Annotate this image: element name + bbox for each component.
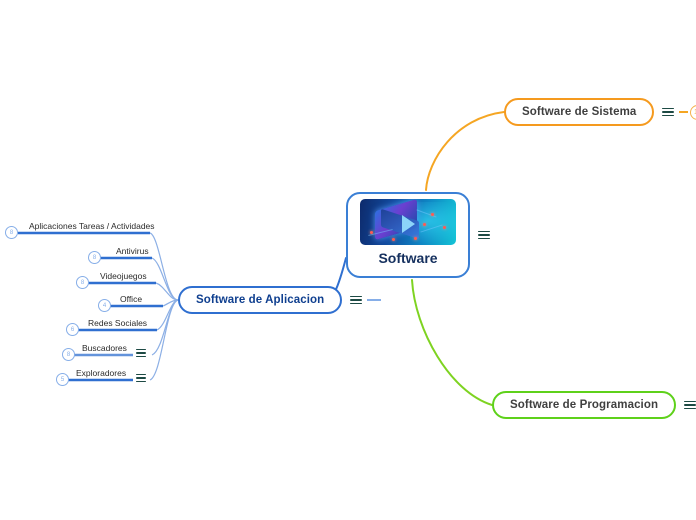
leaf-buscadores-label: Buscadores bbox=[82, 343, 127, 353]
leaf-aplicaciones-tareas-badge[interactable]: 8 bbox=[5, 226, 18, 239]
leaf-node-redes-sociales[interactable]: 6 Redes Sociales bbox=[66, 323, 79, 336]
branch-sistema-count-badge[interactable]: 10 bbox=[690, 105, 696, 120]
center-node-label: Software bbox=[378, 250, 437, 266]
mindmap-canvas: Software Software de Sistema 10 Software… bbox=[0, 0, 696, 520]
leaf-antivirus-label: Antivirus bbox=[116, 246, 149, 256]
branch-aplicacion-menu-icon[interactable] bbox=[350, 296, 362, 305]
branch-node-sistema[interactable]: Software de Sistema 10 bbox=[504, 98, 696, 126]
branch-sistema-connector bbox=[679, 111, 688, 113]
leaf-node-buscadores[interactable]: 8 Buscadores bbox=[62, 348, 75, 361]
leaf-buscadores-badge[interactable]: 8 bbox=[62, 348, 75, 361]
software-illustration bbox=[360, 199, 456, 245]
leaf-redes-sociales-badge[interactable]: 6 bbox=[66, 323, 79, 336]
edge-center-to-programacion bbox=[412, 280, 492, 405]
leaf-videojuegos-label: Videojuegos bbox=[100, 271, 147, 281]
edge-leaf-redes-sociales bbox=[157, 300, 178, 330]
branch-sistema-menu-icon[interactable] bbox=[662, 108, 674, 117]
leaf-node-antivirus[interactable]: 8 Antivirus bbox=[88, 251, 101, 264]
branch-node-programacion[interactable]: Software de Programacion 10 bbox=[492, 391, 696, 419]
edge-leaf-exploradores bbox=[150, 300, 178, 380]
branch-aplicacion-label: Software de Aplicacion bbox=[196, 294, 324, 306]
center-node[interactable]: Software bbox=[346, 192, 490, 278]
leaf-videojuegos-badge[interactable]: 8 bbox=[76, 276, 89, 289]
leaf-exploradores-badge[interactable]: 5 bbox=[56, 373, 69, 386]
branch-node-aplicacion[interactable]: Software de Aplicacion bbox=[178, 286, 381, 314]
edge-leaf-office bbox=[163, 300, 178, 306]
leaf-node-exploradores[interactable]: 5 Exploradores bbox=[56, 373, 69, 386]
branch-sistema-label: Software de Sistema bbox=[522, 106, 636, 118]
branch-sistema-pill[interactable]: Software de Sistema bbox=[504, 98, 654, 126]
center-node-box[interactable]: Software bbox=[346, 192, 470, 278]
edge-leaf-aplicaciones-tareas bbox=[150, 233, 178, 300]
leaf-aplicaciones-tareas-label: Aplicaciones Tareas / Actividades bbox=[29, 221, 155, 231]
leaf-node-office[interactable]: 4 Office bbox=[98, 299, 111, 312]
edge-leaf-antivirus bbox=[152, 258, 178, 300]
branch-programacion-pill[interactable]: Software de Programacion bbox=[492, 391, 676, 419]
leaf-exploradores-menu-icon[interactable] bbox=[136, 362, 146, 382]
branch-aplicacion-connector bbox=[367, 299, 381, 301]
leaf-redes-sociales-label: Redes Sociales bbox=[88, 318, 147, 328]
branch-programacion-menu-icon[interactable] bbox=[684, 401, 696, 410]
leaf-office-label: Office bbox=[120, 294, 142, 304]
leaf-antivirus-badge[interactable]: 8 bbox=[88, 251, 101, 264]
leaf-node-aplicaciones-tareas[interactable]: 8 Aplicaciones Tareas / Actividades bbox=[5, 226, 18, 239]
branch-aplicacion-pill[interactable]: Software de Aplicacion bbox=[178, 286, 342, 314]
edge-group-leaves bbox=[150, 233, 178, 380]
edge-leaf-buscadores bbox=[152, 300, 178, 355]
edge-leaf-videojuegos bbox=[156, 283, 178, 300]
leaf-exploradores-label: Exploradores bbox=[76, 368, 126, 378]
branch-programacion-label: Software de Programacion bbox=[510, 399, 658, 411]
leaf-buscadores-menu-icon[interactable] bbox=[136, 337, 146, 357]
center-node-menu-icon[interactable] bbox=[478, 231, 490, 240]
leaf-node-videojuegos[interactable]: 8 Videojuegos bbox=[76, 276, 89, 289]
edge-center-to-sistema bbox=[426, 112, 504, 190]
leaf-office-badge[interactable]: 4 bbox=[98, 299, 111, 312]
